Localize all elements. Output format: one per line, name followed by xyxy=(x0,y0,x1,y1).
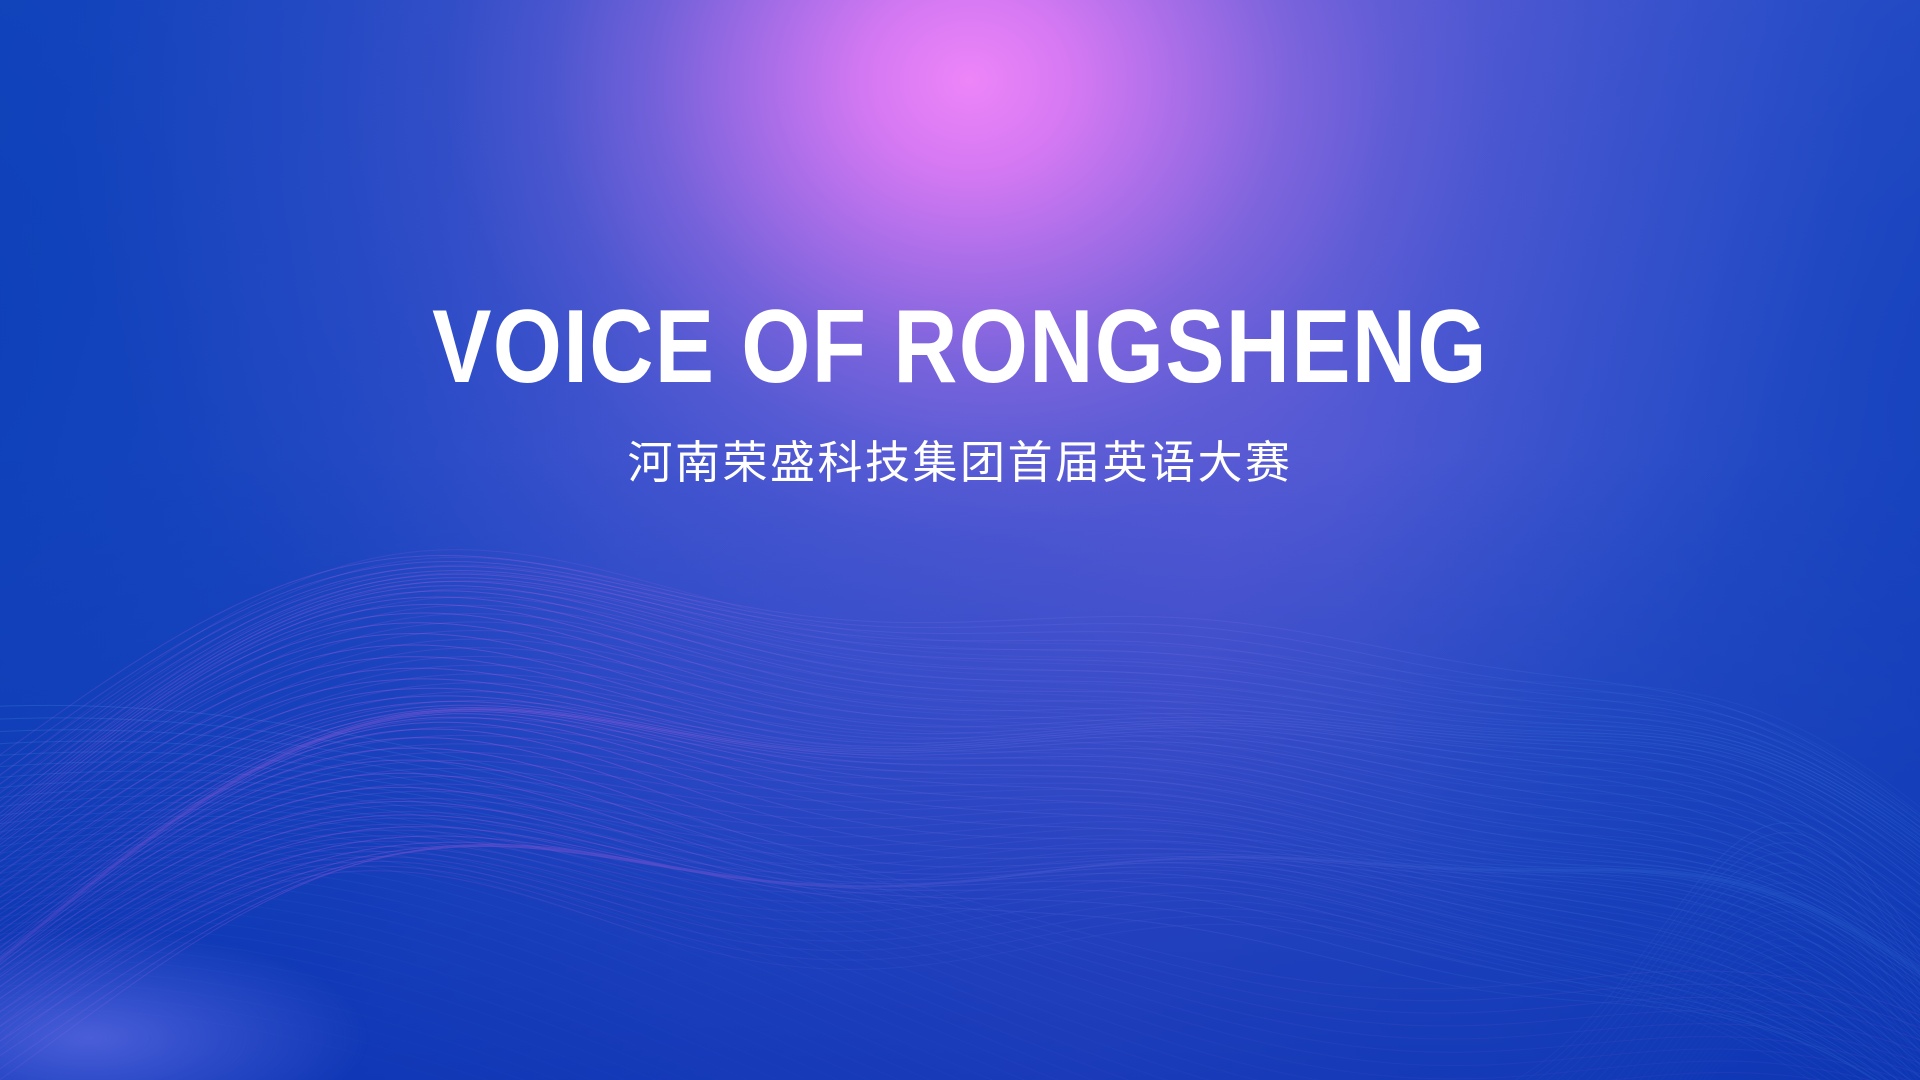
poster-text-block: VOICE OF RONGSHENG 河南荣盛科技集团首届英语大赛 xyxy=(0,292,1920,488)
wave-bottom-highlight xyxy=(0,920,420,1080)
background-bottom-shade xyxy=(0,0,1920,1080)
page-subtitle: 河南荣盛科技集团首届英语大赛 xyxy=(0,402,1920,488)
page-title: VOICE OF RONGSHENG xyxy=(139,292,1781,402)
poster-canvas: VOICE OF RONGSHENG 河南荣盛科技集团首届英语大赛 xyxy=(0,0,1920,1080)
